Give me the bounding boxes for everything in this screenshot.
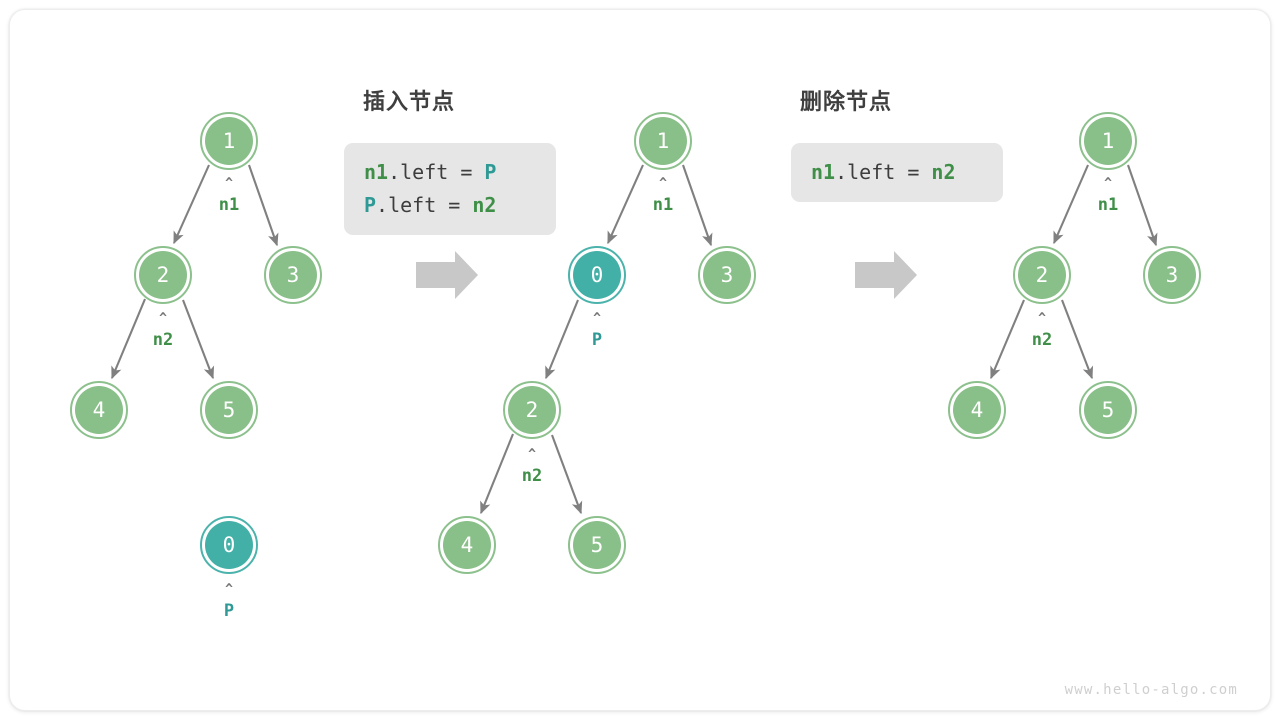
code-token-val: n2 — [472, 193, 496, 217]
node-value: 1 — [657, 131, 670, 152]
code-token-var: n1 — [811, 160, 835, 184]
caret-icon: ^ — [1078, 178, 1138, 190]
node-value: 4 — [93, 400, 106, 421]
node-value: 1 — [223, 131, 236, 152]
node-value: 5 — [1102, 400, 1115, 421]
tree-node-4[interactable]: 4 — [438, 516, 496, 574]
pointer-name: P — [199, 603, 259, 620]
pointer-label-P: ^ P — [567, 313, 627, 349]
node-value: 0 — [223, 535, 236, 556]
pointer-label-n1: ^ n1 — [633, 178, 693, 214]
tree-node-5[interactable]: 5 — [200, 381, 258, 439]
tree-node-3[interactable]: 3 — [264, 246, 322, 304]
code-token-var: P — [364, 193, 376, 217]
pointer-name: n1 — [1078, 197, 1138, 214]
tree-node-2[interactable]: 2 — [134, 246, 192, 304]
node-value: 3 — [287, 265, 300, 286]
node-value: 1 — [1102, 131, 1115, 152]
node-value: 3 — [1166, 265, 1179, 286]
pointer-label-n2: ^ n2 — [502, 449, 562, 485]
caret-icon: ^ — [633, 178, 693, 190]
code-line-2: P.left = n2 — [364, 189, 536, 222]
pointer-name: P — [567, 332, 627, 349]
code-line-1: n1.left = P — [364, 156, 536, 189]
tree-node-0-detached[interactable]: 0 — [200, 516, 258, 574]
pointer-label-n2: ^ n2 — [133, 313, 193, 349]
tree-node-1[interactable]: 1 — [200, 112, 258, 170]
caret-icon: ^ — [199, 584, 259, 596]
caret-icon: ^ — [133, 313, 193, 325]
pointer-name: n1 — [199, 197, 259, 214]
watermark: www.hello-algo.com — [1065, 682, 1238, 698]
caret-icon: ^ — [1012, 313, 1072, 325]
panel-title-insert: 插入节点 — [363, 84, 455, 116]
pointer-label-P: ^ P — [199, 584, 259, 620]
code-token-val: P — [484, 160, 496, 184]
code-token-val: n2 — [931, 160, 955, 184]
tree-node-3[interactable]: 3 — [698, 246, 756, 304]
panel-title-delete: 删除节点 — [800, 84, 892, 116]
node-value: 2 — [1036, 265, 1049, 286]
diagram-canvas: 1 2 3 4 5 0 ^ n1 — [0, 0, 1280, 720]
caret-icon: ^ — [502, 449, 562, 461]
tree-node-5[interactable]: 5 — [1079, 381, 1137, 439]
tree-node-0[interactable]: 0 — [568, 246, 626, 304]
code-line-1: n1.left = n2 — [811, 156, 983, 189]
pointer-name: n2 — [502, 468, 562, 485]
code-token-op: .left = — [376, 193, 472, 217]
tree-node-4[interactable]: 4 — [948, 381, 1006, 439]
code-token-var: n1 — [364, 160, 388, 184]
node-value: 2 — [526, 400, 539, 421]
node-value: 0 — [591, 265, 604, 286]
node-value: 5 — [591, 535, 604, 556]
node-value: 4 — [461, 535, 474, 556]
pointer-name: n2 — [133, 332, 193, 349]
tree-node-4[interactable]: 4 — [70, 381, 128, 439]
node-value: 5 — [223, 400, 236, 421]
node-value: 3 — [721, 265, 734, 286]
pointer-name: n2 — [1012, 332, 1072, 349]
node-value: 2 — [157, 265, 170, 286]
code-token-op: .left = — [388, 160, 484, 184]
code-block-insert: n1.left = P P.left = n2 — [344, 143, 556, 235]
tree-node-1[interactable]: 1 — [634, 112, 692, 170]
tree-node-3[interactable]: 3 — [1143, 246, 1201, 304]
caret-icon: ^ — [199, 178, 259, 190]
tree-node-1[interactable]: 1 — [1079, 112, 1137, 170]
pointer-label-n1: ^ n1 — [1078, 178, 1138, 214]
tree-node-2[interactable]: 2 — [503, 381, 561, 439]
tree-node-5[interactable]: 5 — [568, 516, 626, 574]
pointer-label-n1: ^ n1 — [199, 178, 259, 214]
pointer-name: n1 — [633, 197, 693, 214]
node-value: 4 — [971, 400, 984, 421]
tree-node-2[interactable]: 2 — [1013, 246, 1071, 304]
caret-icon: ^ — [567, 313, 627, 325]
code-block-delete: n1.left = n2 — [791, 143, 1003, 202]
pointer-label-n2: ^ n2 — [1012, 313, 1072, 349]
code-token-op: .left = — [835, 160, 931, 184]
